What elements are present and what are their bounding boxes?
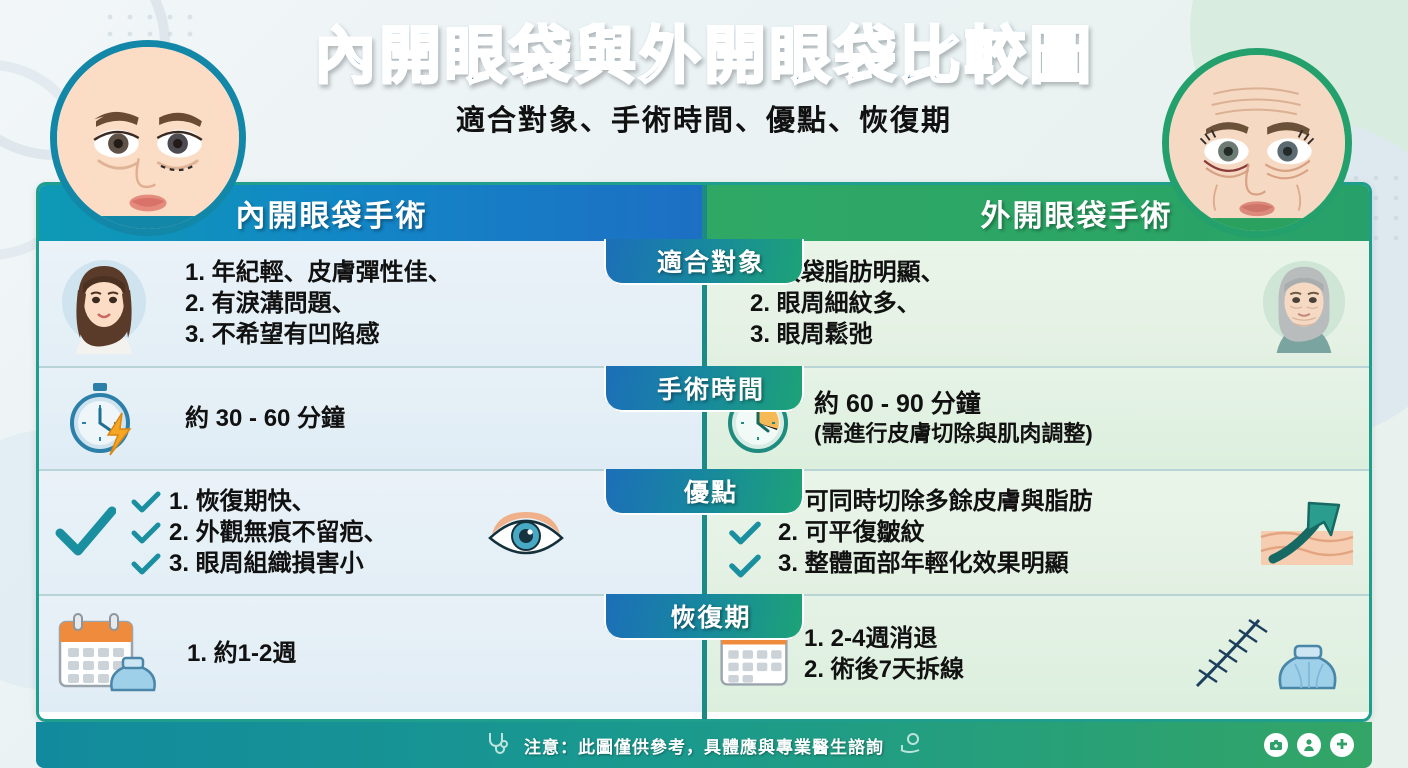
row-1-left-text: 1. 年紀輕、皮膚彈性佳、 2. 有淚溝問題、 3. 不希望有凹陷感 xyxy=(185,257,452,351)
category-badge-3: 優點 xyxy=(604,469,804,515)
row-3-right-line-1: 1. 可同時切除多餘皮膚與脂肪 xyxy=(778,486,1093,517)
category-badge-2: 手術時間 xyxy=(604,366,804,412)
category-badge-1-label: 適合對象 xyxy=(657,243,765,279)
hand-care-icon xyxy=(898,730,924,761)
comparison-table: 內開眼袋手術 外開眼袋手術 xyxy=(36,182,1372,722)
row-3-right-line-3: 3. 整體面部年輕化效果明顯 xyxy=(778,548,1093,579)
footer-bar: 注意：此圖僅供參考，具體應與專業醫生諮詢 xyxy=(36,722,1372,768)
row-2-right-line-1: 約 60 - 90 分鐘 xyxy=(814,388,1093,421)
row-1-left-line-2: 2. 有淚溝問題、 xyxy=(185,288,452,319)
footer-note: 注意：此圖僅供參考，具體應與專業醫生諮詢 xyxy=(524,733,884,758)
stethoscope-icon xyxy=(484,730,510,761)
row-3-left-line-1: 1. 恢復期快、 xyxy=(169,486,388,517)
row-4-right-line-1: 1. 2-4週消退 xyxy=(804,623,964,654)
row-1-left-line-1: 1. 年紀輕、皮膚彈性佳、 xyxy=(185,257,452,288)
stopwatch-blue-icon xyxy=(39,379,169,459)
page-title: 內開眼袋與外開眼袋比較圖 xyxy=(314,24,1094,89)
young-woman-portrait-icon xyxy=(39,250,169,358)
row-4-right-text: 1. 2-4週消退 2. 術後7天拆線 xyxy=(804,623,964,685)
row-2-right-text: 約 60 - 90 分鐘 (需進行皮膚切除與肌肉調整) xyxy=(814,388,1093,449)
check-icon xyxy=(131,522,161,544)
column-header-right-label: 外開眼袋手術 xyxy=(981,191,1173,235)
row-3-left-text: 1. 恢復期快、 2. 外觀無痕不留疤、 3. 眼周組織損害小 xyxy=(131,486,388,580)
row-1-left-line-3: 3. 不希望有凹陷感 xyxy=(185,319,452,350)
footer-icon-group xyxy=(1264,733,1354,757)
check-icon xyxy=(131,553,161,575)
check-icon xyxy=(131,491,161,513)
row-4-left-line-1: 1. 約1-2週 xyxy=(187,638,296,669)
row-4-left-text: 1. 約1-2週 xyxy=(187,638,296,669)
check-icon xyxy=(728,554,762,578)
stitches-icepack-icon xyxy=(964,612,1369,696)
doctor-icon[interactable] xyxy=(1297,733,1321,757)
category-badge-1: 適合對象 xyxy=(604,239,804,285)
row-3-right-lines: 1. 可同時切除多餘皮膚與脂肪 2. 可平復皺紋 3. 整體面部年輕化效果明顯 xyxy=(778,486,1093,580)
row-1-right-line-3: 3. 眼周鬆弛 xyxy=(750,319,945,350)
medical-bag-icon[interactable] xyxy=(1264,733,1288,757)
skin-lift-arrow-icon xyxy=(1093,493,1369,573)
row-3-right-line-2: 2. 可平復皺紋 xyxy=(778,517,1093,548)
elderly-woman-portrait-icon xyxy=(945,251,1369,357)
avatar-before-outer xyxy=(1162,48,1352,238)
column-header-left-label: 內開眼袋手術 xyxy=(236,191,428,235)
medical-cross-icon[interactable] xyxy=(1330,733,1354,757)
row-3-left-line-2: 2. 外觀無痕不留疤、 xyxy=(169,517,388,548)
row-4-right-line-2: 2. 術後7天拆線 xyxy=(804,654,964,685)
row-3-left-lines: 1. 恢復期快、 2. 外觀無痕不留疤、 3. 眼周組織損害小 xyxy=(169,486,388,580)
category-badge-4: 恢復期 xyxy=(604,594,804,640)
category-badge-3-label: 優點 xyxy=(684,473,738,509)
avatar-before-inner xyxy=(50,40,246,236)
row-3-left-line-3: 3. 眼周組織損害小 xyxy=(169,548,388,579)
category-badge-4-label: 恢復期 xyxy=(670,598,751,634)
row-2-left-line-1: 約 30 - 60 分鐘 xyxy=(185,403,345,434)
calendar-icepack-icon xyxy=(39,612,179,696)
category-badge-2-label: 手術時間 xyxy=(657,370,765,406)
big-check-icon xyxy=(39,505,131,561)
row-2-right-line-2: (需進行皮膚切除與肌肉調整) xyxy=(814,420,1093,449)
row-1-right-line-2: 2. 眼周細紋多、 xyxy=(750,288,945,319)
checkmark-group-left xyxy=(131,491,161,575)
check-icon xyxy=(728,521,762,545)
row-2-left-text: 約 30 - 60 分鐘 xyxy=(185,403,345,434)
